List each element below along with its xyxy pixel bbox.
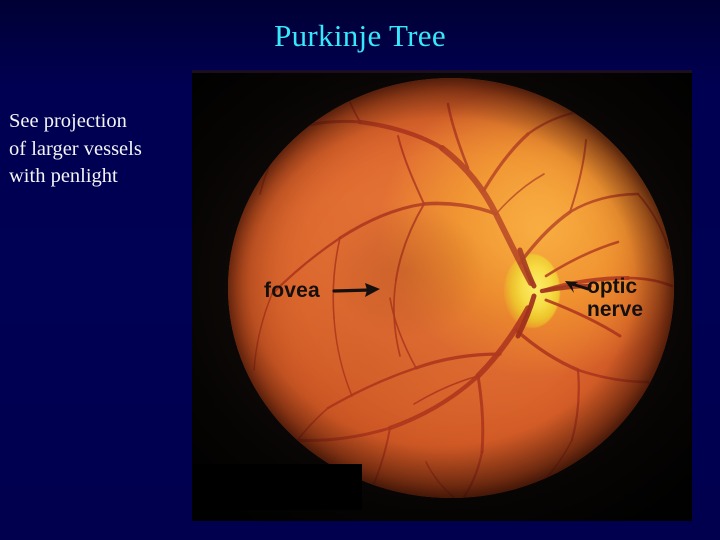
- presentation-slide: Purkinje Tree See projection of larger v…: [0, 0, 720, 540]
- body-text-block: See projection of larger vessels with pe…: [9, 108, 214, 191]
- optic-nerve-label-line-1: optic: [587, 275, 643, 298]
- body-text-line-2: of larger vessels: [9, 136, 214, 164]
- optic-nerve-label: optic nerve: [587, 275, 643, 321]
- fundus-photograph: fovea optic nerve: [192, 70, 692, 521]
- body-text-line-3: with penlight: [9, 163, 214, 191]
- redaction-bar: [192, 464, 362, 510]
- optic-nerve-label-line-2: nerve: [587, 298, 643, 321]
- optic-nerve-arrow-icon: [564, 278, 590, 296]
- fovea-label: fovea: [264, 279, 320, 303]
- page-title: Purkinje Tree: [0, 18, 720, 54]
- fovea-arrow-icon: [332, 282, 382, 300]
- body-text-line-1: See projection: [9, 108, 214, 136]
